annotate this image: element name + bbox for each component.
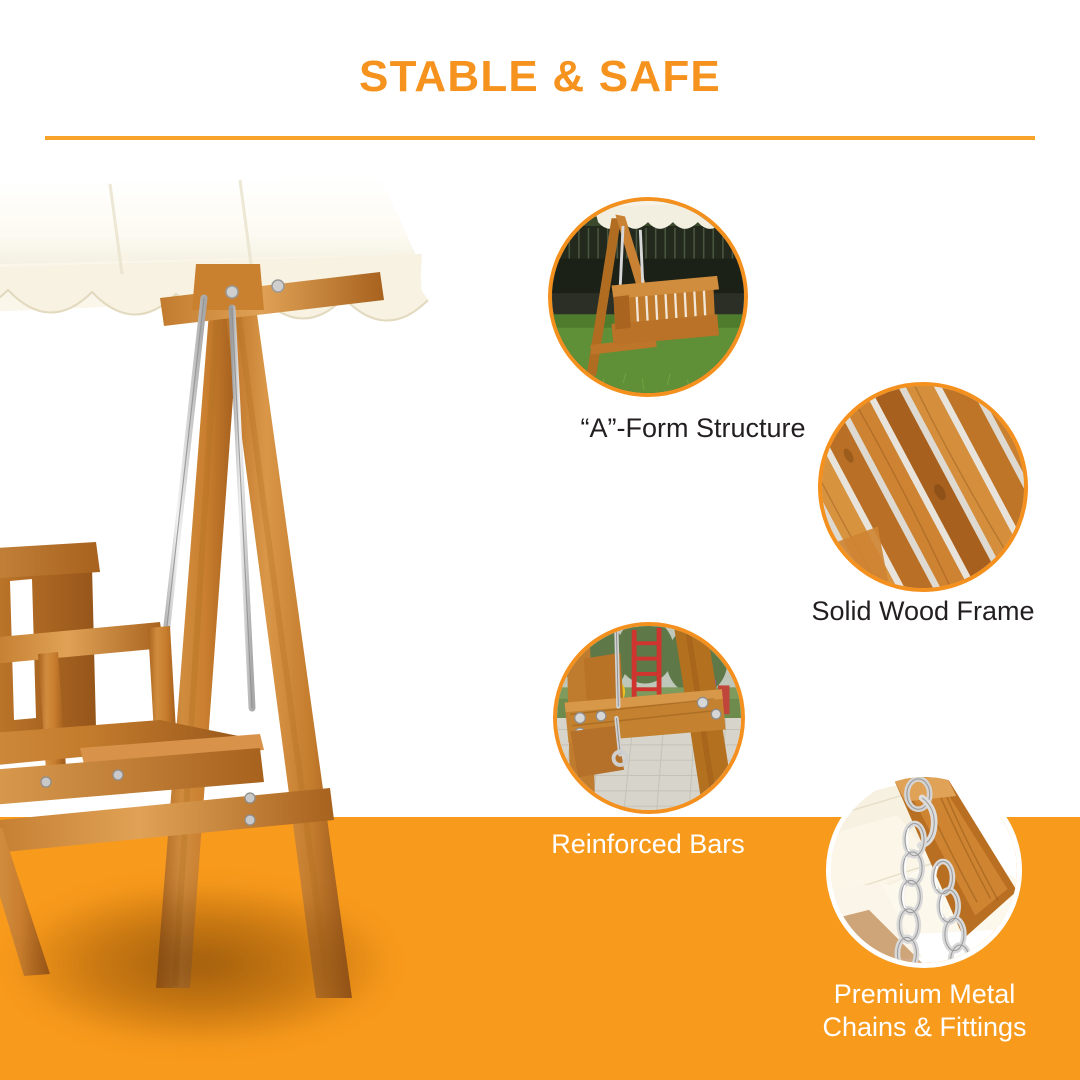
- feature-image-metal-chains[interactable]: [826, 772, 1022, 968]
- feature-image-solid-wood[interactable]: [818, 382, 1028, 592]
- feature-image-reinforced-bars[interactable]: [553, 622, 745, 814]
- product-drop-shadow: [0, 880, 460, 1080]
- hero-product-image: [0, 168, 500, 998]
- feature-image-a-form[interactable]: [548, 197, 748, 397]
- feature-label-solid-wood: Solid Wood Frame: [768, 595, 1078, 628]
- feature-label-reinforced-bars: Reinforced Bars: [498, 828, 798, 861]
- feature-label-metal-chains: Premium Metal Chains & Fittings: [772, 978, 1077, 1044]
- feature-label-a-form: “A”-Form Structure: [528, 412, 858, 445]
- page-title: STABLE & SAFE: [0, 52, 1080, 102]
- infographic-canvas: STABLE & SAFE: [0, 0, 1080, 1080]
- title-divider: [45, 136, 1035, 140]
